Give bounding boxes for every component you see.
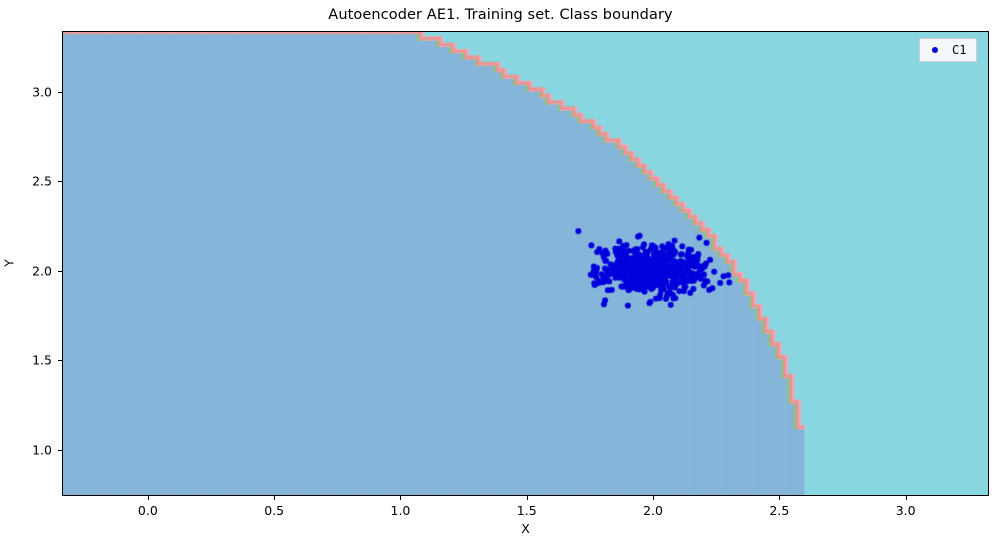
x-tick-1 (274, 496, 275, 500)
x-tick-3 (527, 496, 528, 500)
matplotlib-figure: Autoencoder AE1. Training set. Class bou… (0, 0, 1001, 547)
legend-label-c1: C1 (952, 43, 969, 57)
scatter-points-canvas (63, 32, 988, 495)
x-tick-label-0: 0.0 (138, 503, 158, 518)
x-axis-label: X (62, 521, 989, 536)
x-tick-6 (906, 496, 907, 500)
x-tick-label-5: 2.5 (769, 503, 789, 518)
y-tick-label-2: 2.0 (32, 263, 52, 278)
page-title: Autoencoder AE1. Training set. Class bou… (0, 7, 1001, 23)
x-tick-4 (653, 496, 654, 500)
y-tick-label-1: 1.5 (32, 353, 52, 368)
x-tick-2 (400, 496, 401, 500)
y-axis-label: Y (1, 259, 16, 267)
x-tick-5 (779, 496, 780, 500)
y-tick-label-3: 2.5 (32, 174, 52, 189)
y-tick-label-0: 1.0 (32, 442, 52, 457)
y-tick-4 (58, 92, 62, 93)
x-tick-label-6: 3.0 (896, 503, 916, 518)
x-tick-label-2: 1.0 (391, 503, 411, 518)
y-tick-1 (58, 360, 62, 361)
x-tick-label-4: 2.0 (643, 503, 663, 518)
x-tick-label-3: 1.5 (517, 503, 537, 518)
plot-area (62, 31, 989, 496)
y-tick-label-4: 3.0 (32, 84, 52, 99)
y-tick-0 (58, 450, 62, 451)
legend-box[interactable]: C1 (919, 38, 977, 62)
x-tick-label-1: 0.5 (264, 503, 284, 518)
y-tick-2 (58, 271, 62, 272)
legend-marker-c1 (932, 47, 938, 53)
x-tick-0 (148, 496, 149, 500)
y-tick-3 (58, 181, 62, 182)
